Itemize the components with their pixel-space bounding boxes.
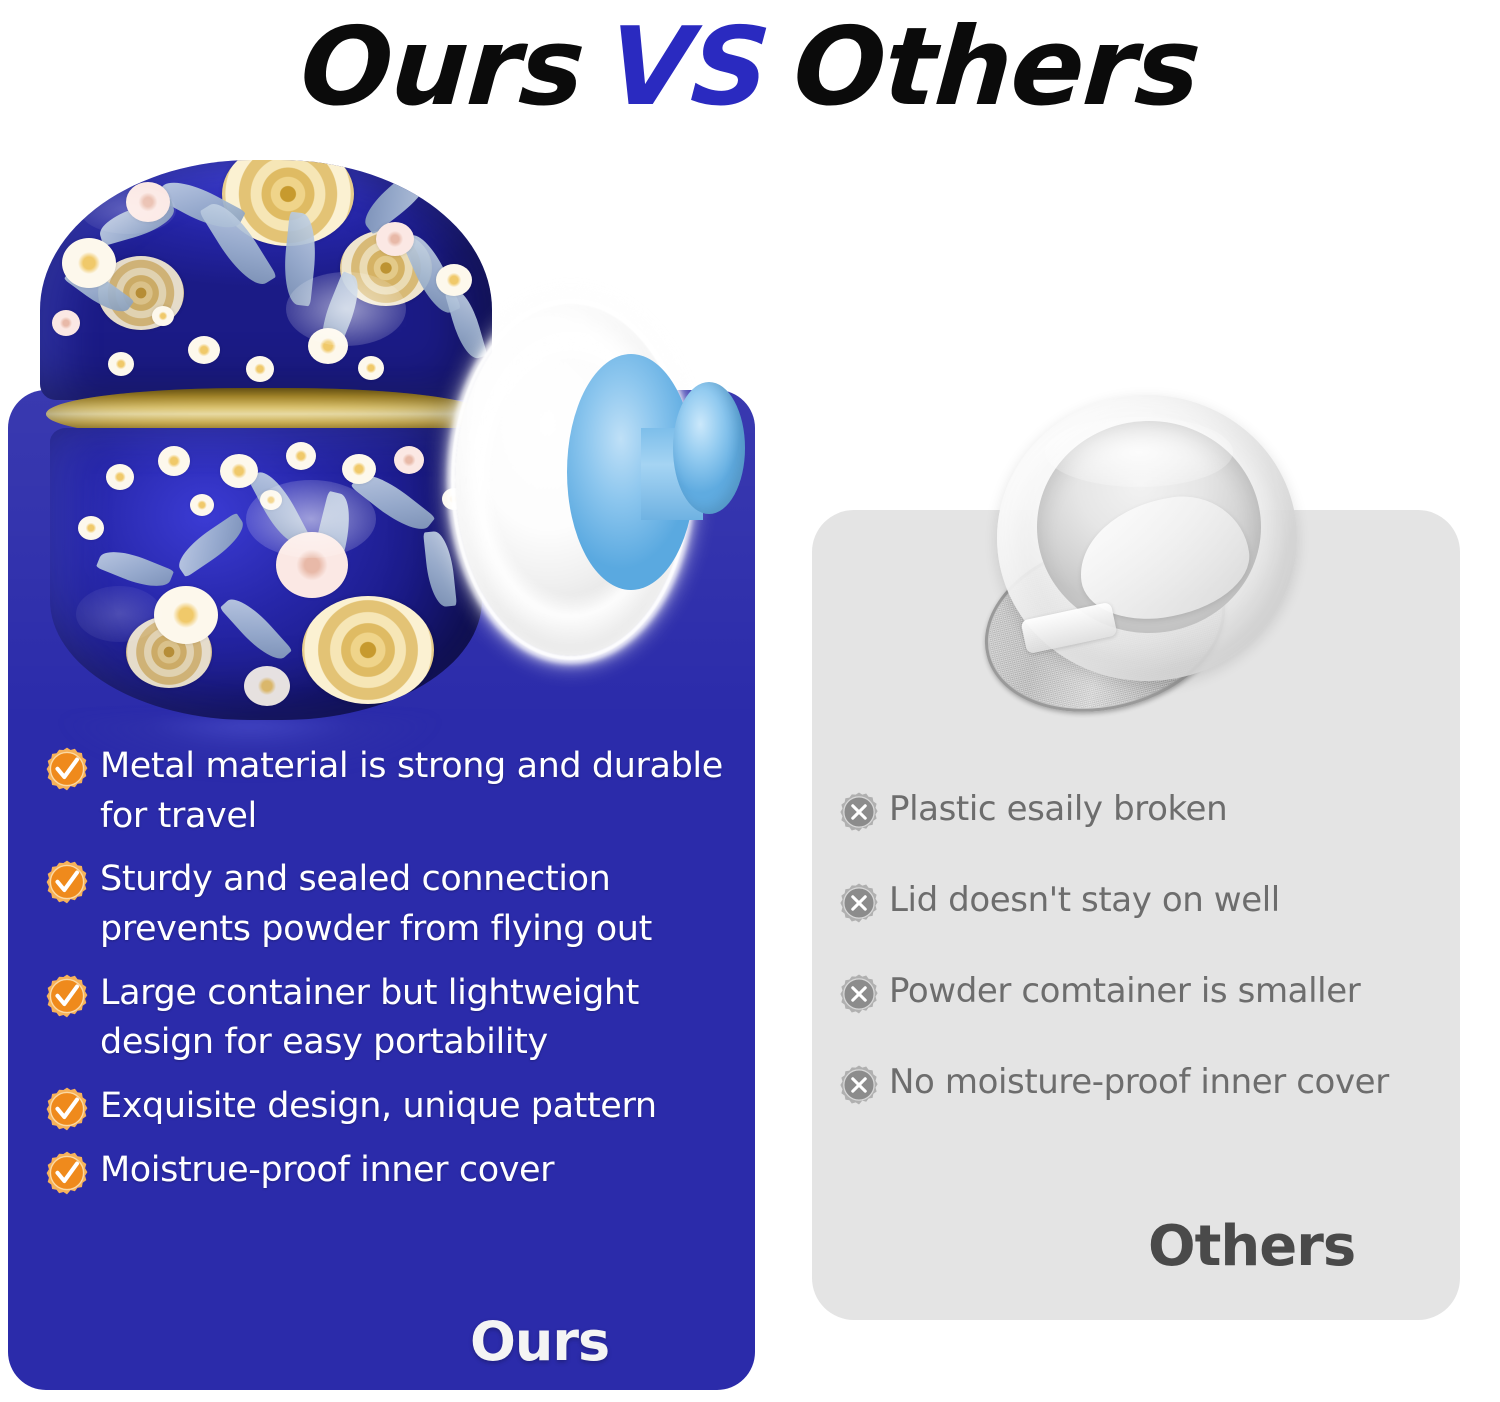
title-word-ours: Ours — [297, 14, 587, 122]
list-item: Lid doesn't stay on well — [838, 879, 1448, 924]
list-item-label: Powder comtainer is smaller — [889, 970, 1360, 1013]
list-item-label: Moistrue-proof inner cover — [100, 1146, 554, 1196]
list-item-label: No moisture-proof inner cover — [889, 1061, 1389, 1104]
puff-handle-knob — [673, 382, 745, 514]
clear-plastic-powder-container-image — [975, 385, 1315, 725]
list-item-label: Plastic esaily broken — [889, 788, 1227, 831]
check-badge-icon — [44, 746, 90, 792]
list-item-label: Metal material is strong and durable for… — [100, 742, 724, 841]
check-badge-icon — [44, 973, 90, 1019]
list-item-label: Sturdy and sealed connection prevents po… — [100, 855, 724, 954]
others-drawback-list: Plastic esaily broken Lid doesn't stay o… — [838, 788, 1448, 1152]
ours-feature-list: Metal material is strong and durable for… — [44, 742, 724, 1210]
list-item-label: Lid doesn't stay on well — [889, 879, 1280, 922]
check-badge-icon — [44, 1150, 90, 1196]
list-item: Large container but lightweight design f… — [44, 969, 724, 1068]
list-item: Moistrue-proof inner cover — [44, 1146, 724, 1196]
white-powder-puff-with-blue-handle-image — [455, 298, 755, 668]
title-word-others: Others — [790, 14, 1203, 122]
list-item: Sturdy and sealed connection prevents po… — [44, 855, 724, 954]
ours-panel-label: Ours — [470, 1310, 609, 1373]
list-item-label: Large container but lightweight design f… — [100, 969, 724, 1068]
tin-body — [50, 428, 482, 720]
cross-badge-icon — [838, 1064, 880, 1106]
cross-badge-icon — [838, 791, 880, 833]
list-item: Plastic esaily broken — [838, 788, 1448, 833]
comparison-graphic: Ours VS Others — [0, 0, 1500, 1402]
check-badge-icon — [44, 1086, 90, 1132]
check-badge-icon — [44, 859, 90, 905]
list-item: Exquisite design, unique pattern — [44, 1082, 724, 1132]
list-item: Metal material is strong and durable for… — [44, 742, 724, 841]
title-word-vs: VS — [605, 14, 772, 122]
list-item-label: Exquisite design, unique pattern — [100, 1082, 657, 1132]
cross-badge-icon — [838, 882, 880, 924]
page-title: Ours VS Others — [0, 8, 1500, 128]
blue-floral-metal-powder-tin-image — [40, 160, 492, 720]
others-panel-label: Others — [1148, 1214, 1355, 1279]
list-item: No moisture-proof inner cover — [838, 1061, 1448, 1106]
tin-lid — [40, 160, 492, 400]
cross-badge-icon — [838, 973, 880, 1015]
list-item: Powder comtainer is smaller — [838, 970, 1448, 1015]
